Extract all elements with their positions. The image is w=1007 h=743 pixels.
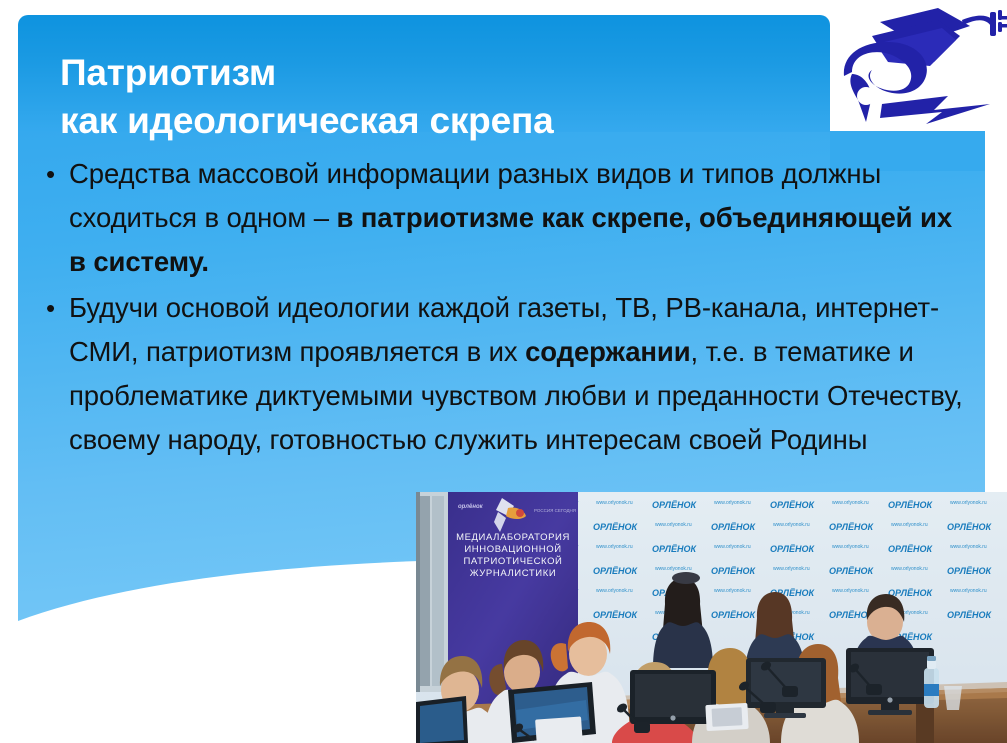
graduation-cap-pen-lightning-icon [830, 0, 1007, 131]
title-bar: Патриотизм как идеологическая скрепа [18, 15, 830, 132]
slide-title: Патриотизм как идеологическая скрепа [60, 49, 820, 145]
organization-logo [830, 0, 1007, 131]
list-item: • Средства массовой информации разных ви… [36, 152, 966, 284]
event-photograph: ОРЛЁНОКОРЛЁНОК ОРЛЁНОКОРЛЁНОК ОРЛЁНОКОРЛ… [416, 492, 1007, 743]
bullet-text: Будучи основой идеологии каждой газеты, … [69, 286, 966, 462]
presentation-slide: Патриотизм как идеологическая скрепа [0, 0, 1007, 743]
list-item: • Будучи основой идеологии каждой газеты… [36, 286, 966, 462]
bullet-text: Средства массовой информации разных видо… [69, 152, 966, 284]
slide-body: • Средства массовой информации разных ви… [36, 152, 966, 464]
bullet-marker: • [36, 152, 69, 196]
bullet-marker: • [36, 286, 69, 330]
